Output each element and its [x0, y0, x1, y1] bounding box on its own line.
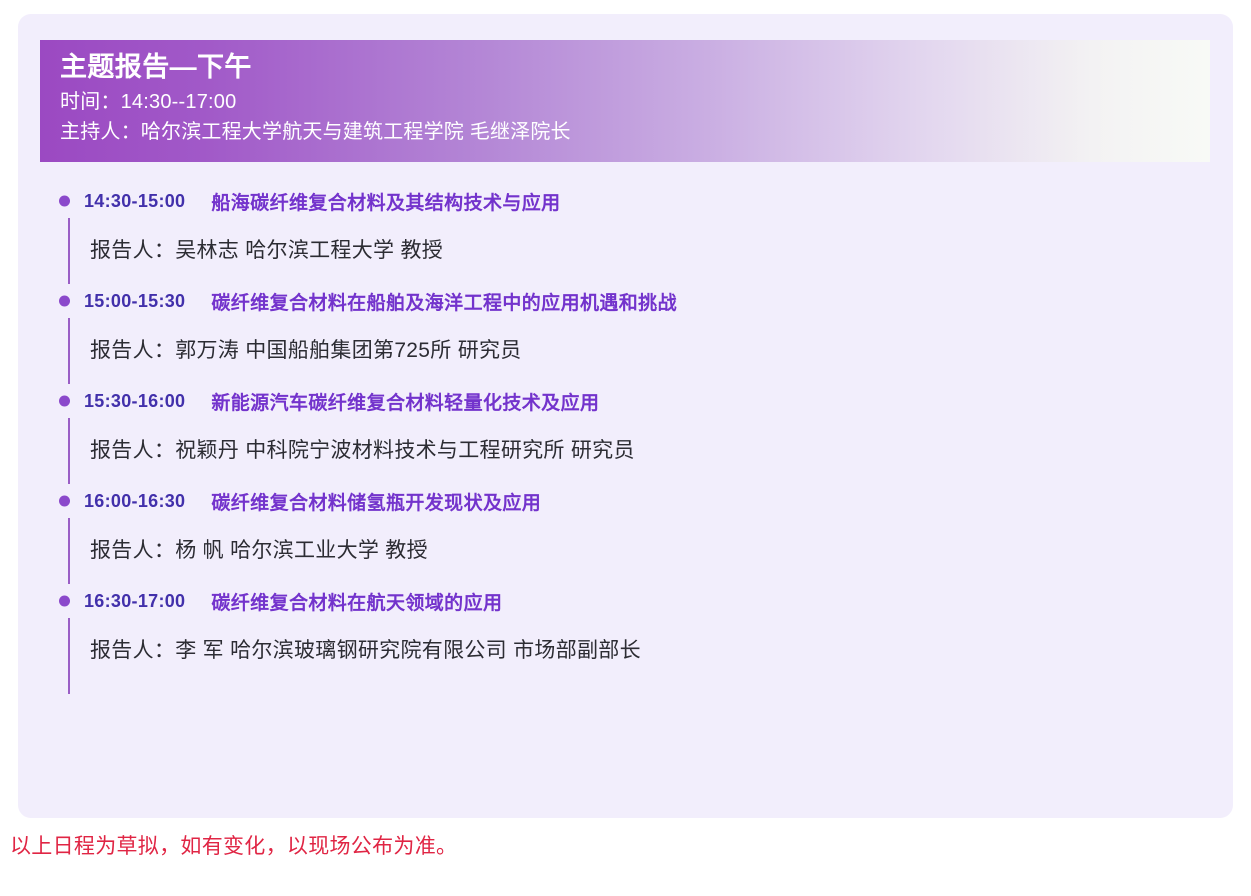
bullet-dot-icon: [59, 396, 70, 407]
session-speaker-block: 报告人：郭万涛 中国船舶集团第725所 研究员: [40, 318, 1210, 384]
session-speaker: 报告人：吴林志 哈尔滨工程大学 教授: [90, 239, 443, 262]
session-time-line: 时间：14:30--17:00: [60, 87, 1210, 117]
session-topic: 碳纤维复合材料在船舶及海洋工程中的应用机遇和挑战: [211, 288, 677, 315]
session-item: 15:30-16:00 新能源汽车碳纤维复合材料轻量化技术及应用 报告人：祝颖丹…: [40, 384, 1210, 484]
bullet-dot-icon: [59, 196, 70, 207]
session-speaker-block: 报告人：李 军 哈尔滨玻璃钢研究院有限公司 市场部副部长: [40, 618, 1210, 694]
session-topic: 碳纤维复合材料储氢瓶开发现状及应用: [211, 488, 541, 515]
session-speaker-block: 报告人：杨 帆 哈尔滨工业大学 教授: [40, 518, 1210, 584]
session-speaker: 报告人：杨 帆 哈尔滨工业大学 教授: [90, 539, 428, 562]
session-headline: 16:00-16:30 碳纤维复合材料储氢瓶开发现状及应用: [40, 484, 1210, 518]
session-topic: 新能源汽车碳纤维复合材料轻量化技术及应用: [211, 388, 599, 415]
session-time: 14:30-15:00: [84, 191, 185, 212]
session-title: 主题报告—下午: [60, 50, 1210, 84]
vertical-rule: [68, 418, 70, 484]
session-speaker-block: 报告人：祝颖丹 中科院宁波材料技术与工程研究所 研究员: [40, 418, 1210, 484]
session-topic: 船海碳纤维复合材料及其结构技术与应用: [211, 188, 560, 215]
session-time: 15:30-16:00: [84, 391, 185, 412]
session-time: 16:00-16:30: [84, 491, 185, 512]
session-speaker-block: 报告人：吴林志 哈尔滨工程大学 教授: [40, 218, 1210, 284]
session-speaker: 报告人：李 军 哈尔滨玻璃钢研究院有限公司 市场部副部长: [90, 639, 641, 662]
vertical-rule: [68, 618, 70, 694]
agenda-page: 主题报告—下午 时间：14:30--17:00 主持人：哈尔滨工程大学航天与建筑…: [0, 0, 1251, 896]
agenda-card: 主题报告—下午 时间：14:30--17:00 主持人：哈尔滨工程大学航天与建筑…: [18, 14, 1233, 818]
session-speaker: 报告人：祝颖丹 中科院宁波材料技术与工程研究所 研究员: [90, 439, 635, 462]
session-item: 16:30-17:00 碳纤维复合材料在航天领域的应用 报告人：李 军 哈尔滨玻…: [40, 584, 1210, 694]
session-item: 15:00-15:30 碳纤维复合材料在船舶及海洋工程中的应用机遇和挑战 报告人…: [40, 284, 1210, 384]
session-topic: 碳纤维复合材料在航天领域的应用: [211, 588, 502, 615]
session-headline: 15:30-16:00 新能源汽车碳纤维复合材料轻量化技术及应用: [40, 384, 1210, 418]
vertical-rule: [68, 318, 70, 384]
session-headline: 16:30-17:00 碳纤维复合材料在航天领域的应用: [40, 584, 1210, 618]
session-list: 14:30-15:00 船海碳纤维复合材料及其结构技术与应用 报告人：吴林志 哈…: [40, 184, 1210, 694]
session-host-line: 主持人：哈尔滨工程大学航天与建筑工程学院 毛继泽院长: [60, 117, 1210, 147]
session-header-banner: 主题报告—下午 时间：14:30--17:00 主持人：哈尔滨工程大学航天与建筑…: [40, 40, 1210, 162]
bullet-dot-icon: [59, 496, 70, 507]
session-headline: 14:30-15:00 船海碳纤维复合材料及其结构技术与应用: [40, 184, 1210, 218]
session-time: 16:30-17:00: [84, 591, 185, 612]
session-item: 16:00-16:30 碳纤维复合材料储氢瓶开发现状及应用 报告人：杨 帆 哈尔…: [40, 484, 1210, 584]
session-headline: 15:00-15:30 碳纤维复合材料在船舶及海洋工程中的应用机遇和挑战: [40, 284, 1210, 318]
vertical-rule: [68, 518, 70, 584]
footer-disclaimer-note: 以上日程为草拟，如有变化，以现场公布为准。: [10, 832, 457, 862]
session-time: 15:00-15:30: [84, 291, 185, 312]
vertical-rule: [68, 218, 70, 284]
session-item: 14:30-15:00 船海碳纤维复合材料及其结构技术与应用 报告人：吴林志 哈…: [40, 184, 1210, 284]
bullet-dot-icon: [59, 596, 70, 607]
session-speaker: 报告人：郭万涛 中国船舶集团第725所 研究员: [90, 339, 522, 362]
bullet-dot-icon: [59, 296, 70, 307]
